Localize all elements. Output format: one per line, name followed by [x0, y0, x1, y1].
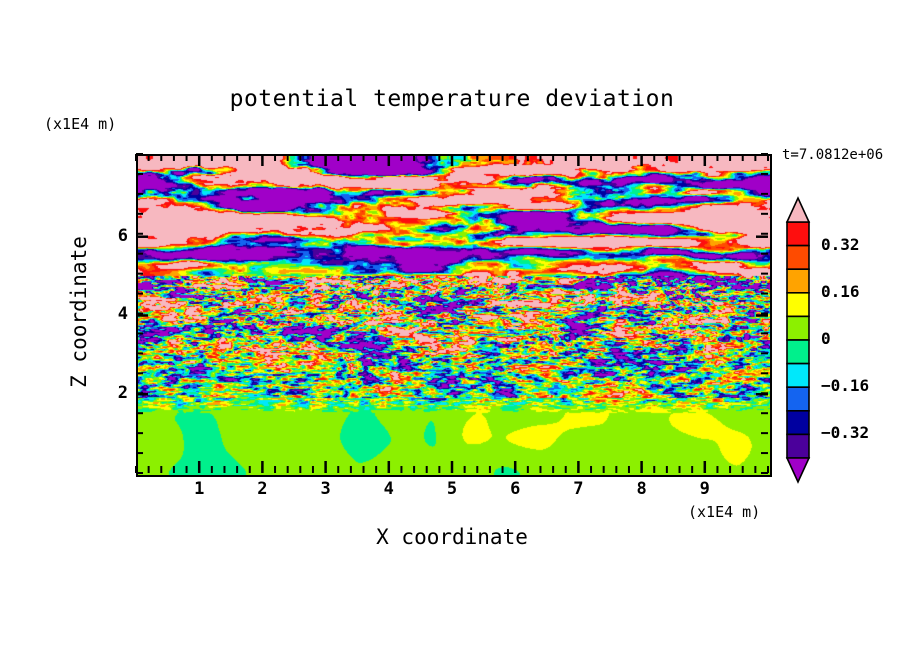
x-tick-label: 2 — [250, 479, 274, 499]
x-axis-unit-label: (x1E4 m) — [688, 503, 760, 521]
colorbar-band — [787, 246, 809, 270]
y-axis-label: Z coordinate — [67, 212, 91, 412]
x-tick-label: 3 — [314, 479, 338, 499]
colorbar-tick-label: 0.32 — [821, 235, 860, 254]
x-tick-label: 8 — [630, 479, 654, 499]
contour-field — [138, 156, 770, 475]
colorbar-band — [787, 340, 809, 364]
x-tick-label: 1 — [187, 479, 211, 499]
figure-canvas: potential temperature deviation (x1E4 m)… — [0, 0, 904, 654]
colorbar-band — [787, 269, 809, 293]
x-tick-label: 7 — [566, 479, 590, 499]
y-tick-label: 2 — [104, 383, 128, 403]
y-tick-label: 4 — [104, 304, 128, 324]
colorbar[interactable] — [783, 196, 813, 484]
x-axis-label: X coordinate — [136, 525, 768, 549]
x-tick-label: 6 — [503, 479, 527, 499]
page-title: potential temperature deviation — [136, 86, 768, 112]
colorbar-tick-label: 0 — [821, 329, 831, 348]
colorbar-band — [787, 387, 809, 411]
colorbar-band — [787, 364, 809, 388]
colorbar-band — [787, 411, 809, 435]
colorbar-band — [787, 222, 809, 246]
colorbar-over-arrow — [787, 198, 809, 222]
x-tick-label: 5 — [440, 479, 464, 499]
colorbar-band — [787, 316, 809, 340]
colorbar-tick-label: 0.16 — [821, 282, 860, 301]
colorbar-band — [787, 434, 809, 458]
colorbar-tick-label: −0.16 — [821, 376, 869, 395]
colorbar-under-arrow — [787, 458, 809, 482]
timestamp-annotation: t=7.0812e+06 — [782, 147, 883, 163]
plot-area[interactable] — [136, 154, 772, 477]
x-tick-label: 4 — [377, 479, 401, 499]
y-tick-label: 6 — [104, 226, 128, 246]
x-tick-label: 9 — [693, 479, 717, 499]
colorbar-tick-label: −0.32 — [821, 423, 869, 442]
colorbar-band — [787, 293, 809, 317]
y-axis-unit-label: (x1E4 m) — [44, 115, 116, 133]
